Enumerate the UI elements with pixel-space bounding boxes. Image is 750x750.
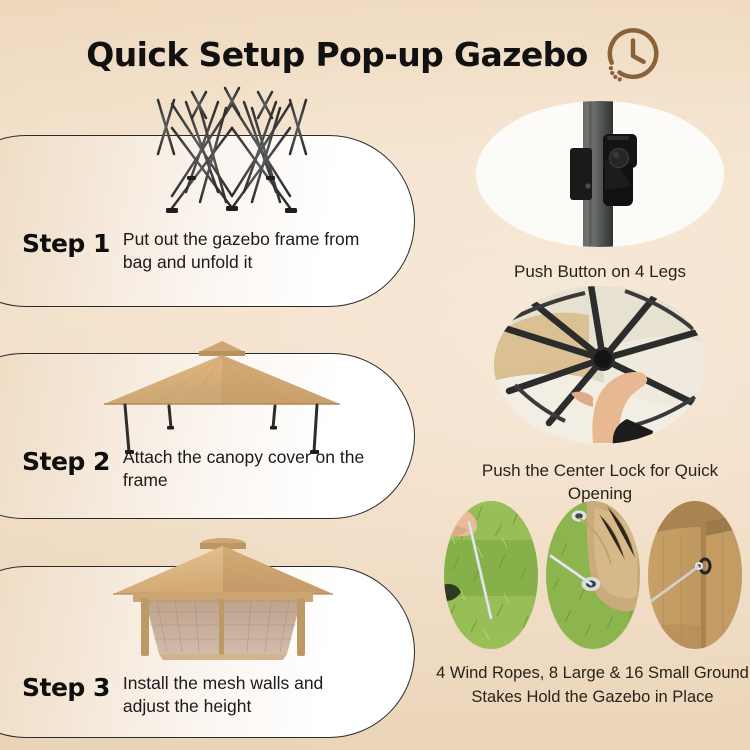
step-2-number: Step 2	[22, 446, 110, 476]
stake-photo-row	[435, 500, 750, 650]
step-1-caption: Step 1 Put out the gazebo frame from bag…	[22, 228, 373, 274]
ground-stakes-caption: 4 Wind Ropes, 8 Large & 16 Small Ground …	[435, 662, 750, 710]
canopy-cover-on-frame-image	[95, 338, 350, 458]
step-2-description: Attach the canopy cover on the frame	[123, 446, 373, 492]
infographic-canvas: Quick Setup Pop-up Gazebo	[0, 0, 750, 750]
push-button-caption: Push Button on 4 Legs	[455, 261, 745, 284]
gazebo-with-mesh-walls-image	[105, 532, 340, 680]
step-3-number: Step 3	[22, 672, 110, 702]
hand-inserting-stake-photo	[443, 500, 539, 650]
clock-icon	[602, 24, 664, 86]
step-1-description: Put out the gazebo frame from bag and un…	[123, 228, 373, 274]
step-1-number: Step 1	[22, 228, 110, 258]
wind-rope-on-corner-photo	[647, 500, 743, 650]
center-lock-caption: Push the Center Lock for Quick Opening	[455, 460, 745, 506]
step-3-description: Install the mesh walls and adjust the he…	[123, 672, 373, 718]
feature-push-button: Push Button on 4 Legs	[455, 100, 745, 284]
feature-center-lock: Push the Center Lock for Quick Opening	[455, 285, 745, 506]
stake-through-fabric-tab-photo	[545, 500, 641, 650]
step-2-caption: Step 2 Attach the canopy cover on the fr…	[22, 446, 373, 492]
center-lock-hand-photo	[493, 285, 708, 445]
header: Quick Setup Pop-up Gazebo	[0, 18, 750, 90]
step-3-caption: Step 3 Install the mesh walls and adjust…	[22, 672, 373, 718]
feature-ground-stakes: 4 Wind Ropes, 8 Large & 16 Small Ground …	[435, 500, 750, 710]
page-title: Quick Setup Pop-up Gazebo	[86, 35, 587, 74]
folded-gazebo-frame-image	[140, 84, 325, 229]
push-button-latch-photo	[475, 100, 725, 248]
